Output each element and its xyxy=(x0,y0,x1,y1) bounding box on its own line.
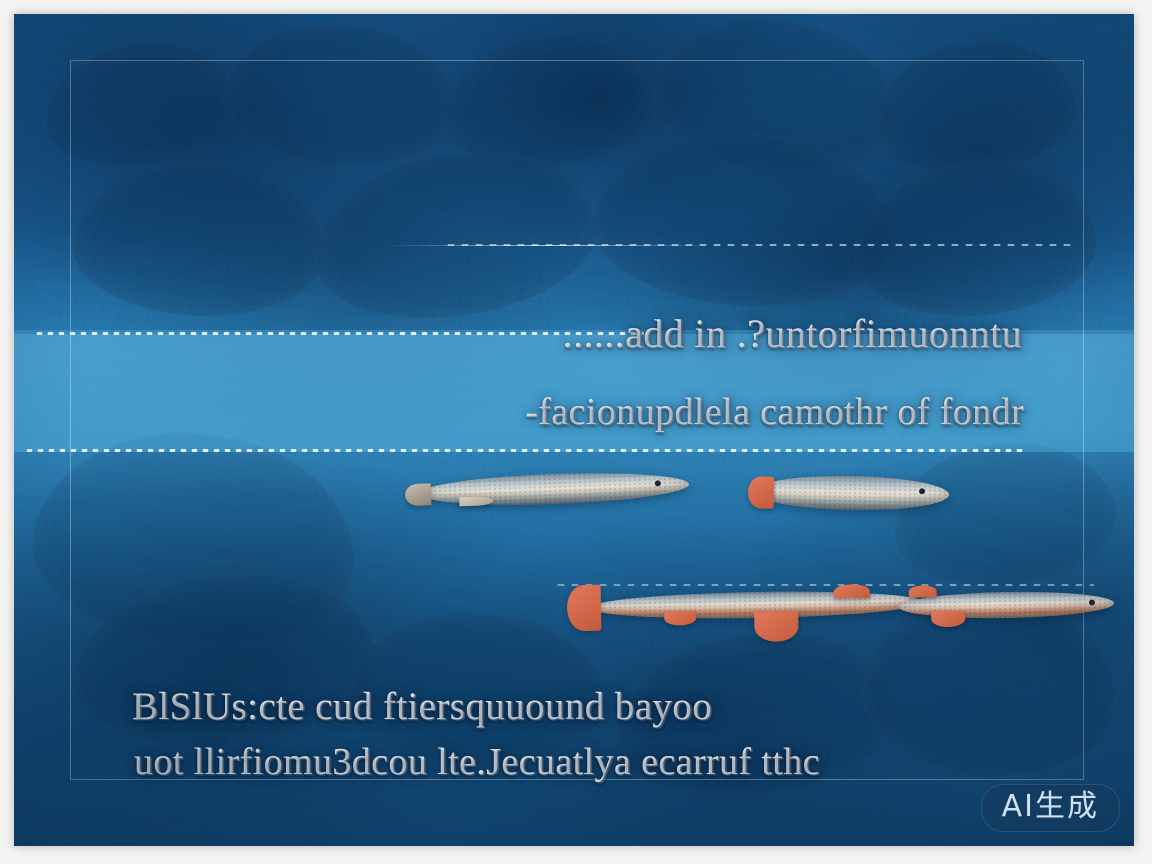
fish-eye xyxy=(919,488,925,494)
headline-line-1: ......add in .?untorfimuonntu xyxy=(563,310,1022,357)
upper-dotted-rule xyxy=(444,244,1074,246)
ai-generated-badge: AI生成 xyxy=(981,784,1120,832)
body-line-1: BlSlUs:cte cud ftiersquuound bayoo xyxy=(132,684,712,729)
fish-tail-fin xyxy=(567,585,602,632)
fish-eye xyxy=(1089,599,1095,605)
lower-dotted-rule xyxy=(24,449,1024,452)
poster-plate: ......add in .?untorfimuonntu -facionupd… xyxy=(14,14,1134,846)
ai-generated-badge-label: AI生成 xyxy=(1002,792,1099,822)
fish-gar-lower-right xyxy=(899,590,1114,620)
mid-dotted-rule xyxy=(34,332,644,335)
fish-line-dotted-rule xyxy=(554,584,1094,586)
fish-tail-fin xyxy=(748,476,775,508)
fish-pectoral-fin xyxy=(459,496,493,506)
fish-needlefish-upper-right xyxy=(754,474,950,511)
fish-tail-fin xyxy=(405,483,432,506)
headline-line-2: -facionupdlela camothr of fondr xyxy=(525,390,1024,434)
body-line-2: uot llirfiomu3dcou lte.Jecuatlya ecarruf… xyxy=(134,740,820,784)
fish-dorsal-fin xyxy=(834,584,870,599)
screenshot-canvas: ......add in .?untorfimuonntu -facionupd… xyxy=(0,0,1152,864)
fish-dorsal-fin xyxy=(909,585,937,597)
